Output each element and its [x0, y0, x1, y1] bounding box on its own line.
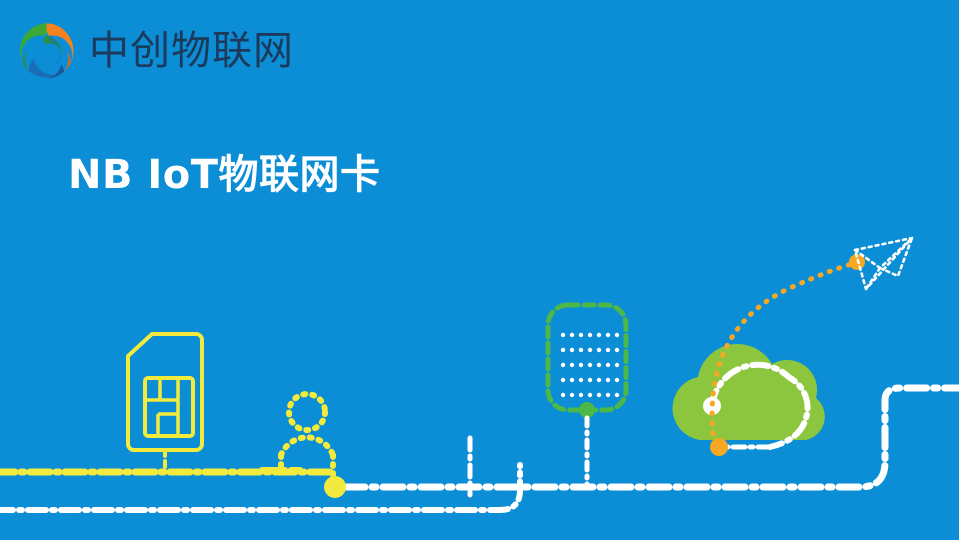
sim-card-icon — [128, 334, 202, 472]
orange-node-dot — [710, 438, 728, 456]
yellow-node-dot — [324, 476, 346, 498]
slide-root: 中创物联网 NB IoT物联网卡 — [0, 0, 959, 540]
device-dot-rows — [561, 333, 619, 397]
white-dash-path-main — [345, 388, 959, 487]
iot-illustration — [0, 0, 959, 540]
device-module-icon — [548, 305, 626, 487]
sim-chip-outline — [145, 378, 193, 436]
user-person-icon — [268, 394, 333, 478]
cloud-icon — [673, 344, 825, 456]
device-outline — [548, 305, 626, 410]
